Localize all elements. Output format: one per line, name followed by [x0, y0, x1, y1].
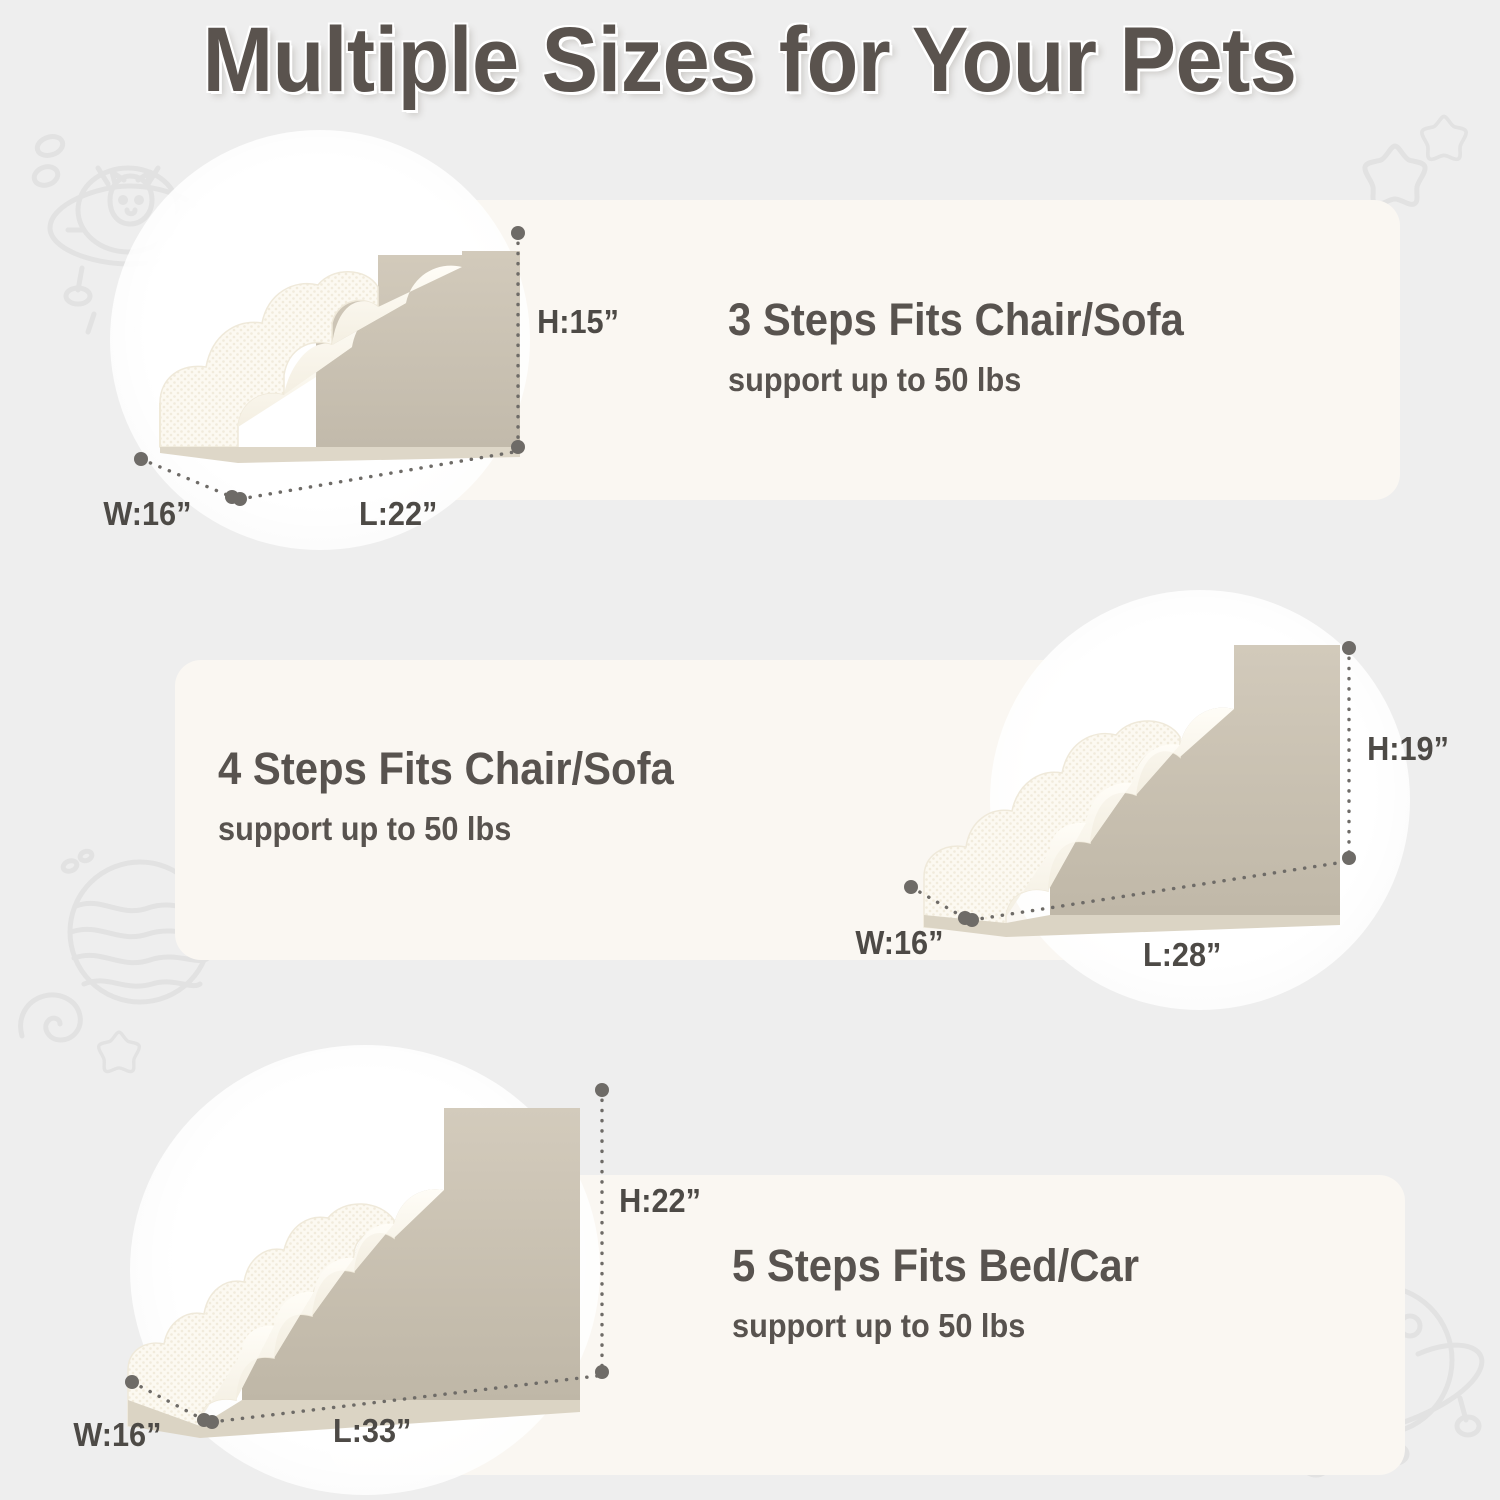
- pet-stairs-3-step-image: [120, 195, 540, 515]
- pet-stairs-5-step-image: [110, 1070, 650, 1460]
- section-support-text: support up to 50 lbs: [218, 812, 674, 847]
- section-headline: 4 Steps Fits Chair/Sofa: [218, 745, 674, 792]
- dimension-width-label: W:16”: [103, 495, 191, 533]
- section-text-block: 3 Steps Fits Chair/Sofa support up to 50…: [728, 296, 1218, 398]
- section-headline: 3 Steps Fits Chair/Sofa: [728, 296, 1184, 343]
- dimension-height-label: H:19”: [1367, 730, 1449, 768]
- section-text-block: 4 Steps Fits Chair/Sofa support up to 50…: [218, 745, 708, 847]
- dimension-width-label: W:16”: [73, 1416, 161, 1454]
- section-headline: 5 Steps Fits Bed/Car: [732, 1242, 1139, 1289]
- infographic-stage: Multiple Sizes for Your Pets: [0, 0, 1500, 1500]
- dimension-width-label: W:16”: [855, 924, 943, 962]
- dimension-length-label: L:28”: [1143, 936, 1221, 974]
- section-support-text: support up to 50 lbs: [728, 363, 1184, 398]
- dimension-height-label: H:22”: [619, 1182, 701, 1220]
- dimension-length-label: L:22”: [359, 495, 437, 533]
- section-support-text: support up to 50 lbs: [732, 1309, 1139, 1344]
- section-five-steps: H:22” W:16” L:33” 5 Steps Fits Bed/Car s…: [0, 1020, 1500, 1500]
- section-three-steps: H:15” W:16” L:22” 3 Steps Fits Chair/Sof…: [0, 0, 1500, 560]
- section-four-steps: H:19” W:16” L:28” 4 Steps Fits Chair/Sof…: [0, 560, 1500, 1040]
- section-text-block: 5 Steps Fits Bed/Car support up to 50 lb…: [732, 1242, 1170, 1344]
- dimension-height-label: H:15”: [537, 303, 619, 341]
- dimension-length-label: L:33”: [333, 1412, 411, 1450]
